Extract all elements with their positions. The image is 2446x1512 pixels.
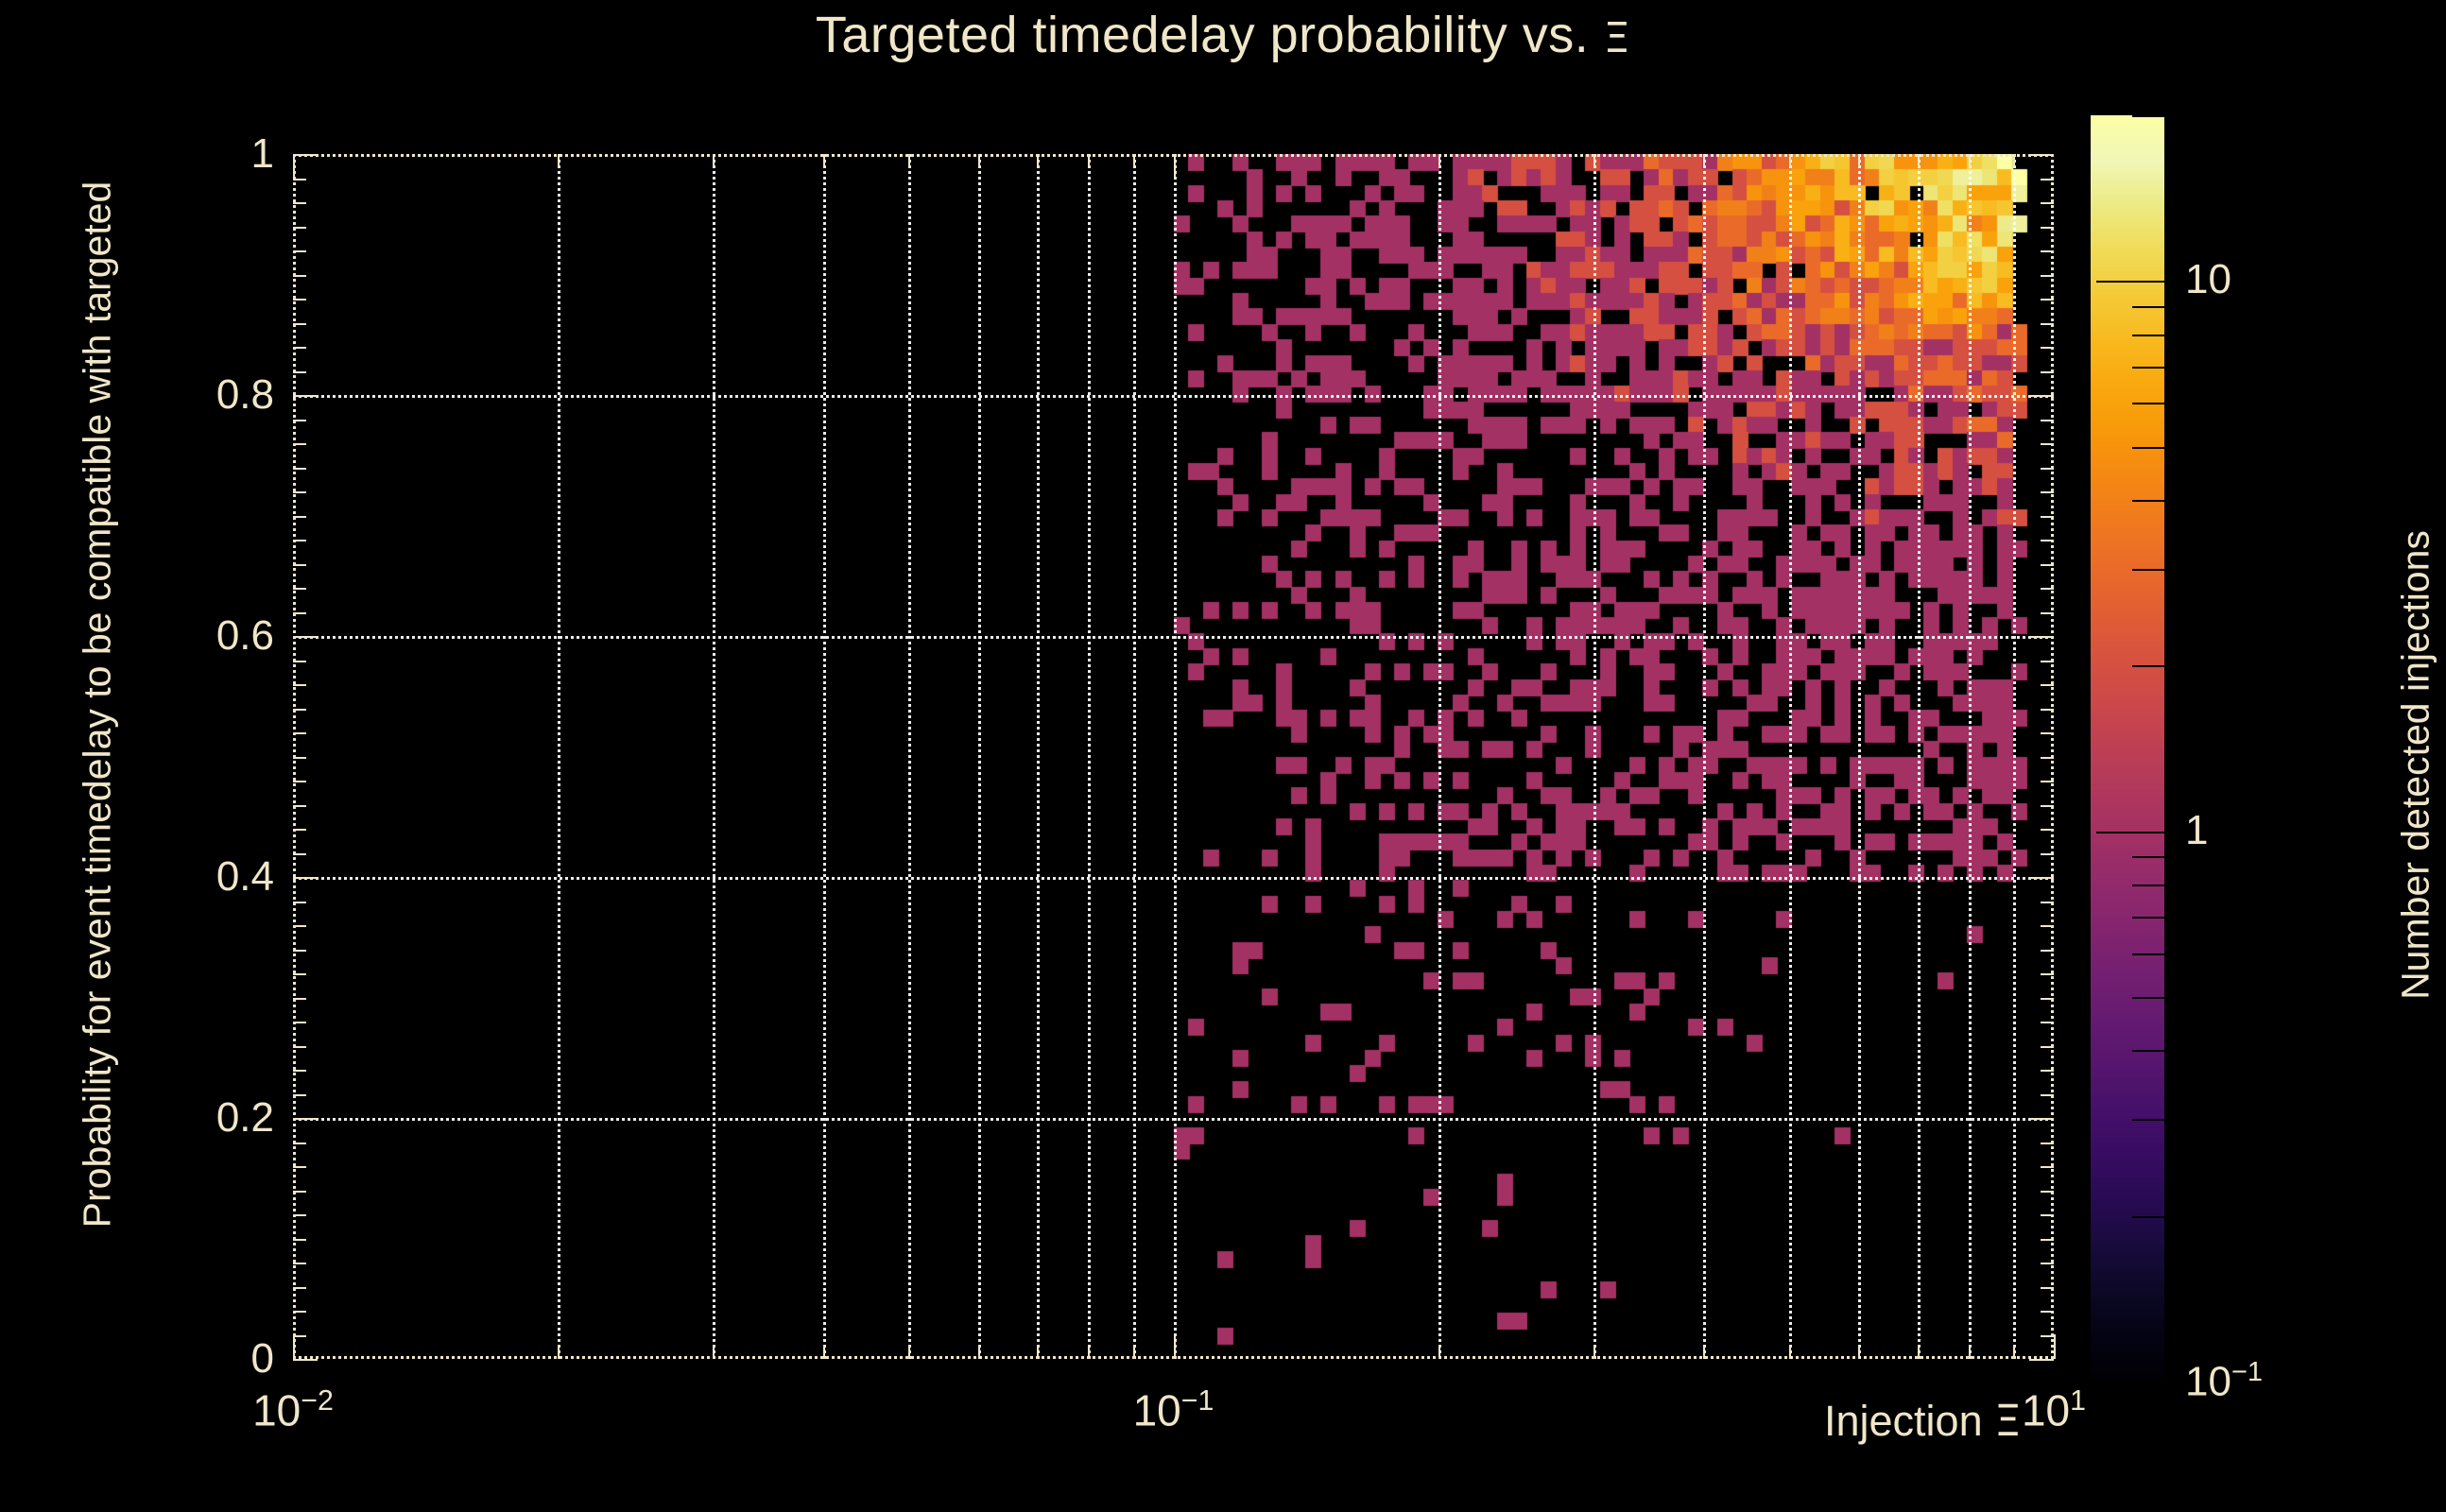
title-xi-symbol: Ξ: [1604, 14, 1630, 62]
colorbar-tick: [2096, 1382, 2164, 1383]
x-tick-mantissa: 10: [2022, 1385, 2070, 1435]
colorbar-tick: [2132, 367, 2164, 369]
colorbar: [2091, 115, 2164, 1382]
x-tick-mantissa: 10: [252, 1385, 301, 1435]
colorbar-tick: [2132, 1119, 2164, 1121]
plot-canvas: Targeted timedelay probability vs. Ξ 10.…: [0, 0, 2446, 1512]
colorbar-tick-label: 1: [2185, 807, 2208, 854]
colorbar-tick-mantissa: 10: [2185, 1359, 2231, 1405]
y-tick-right: [2029, 1359, 2054, 1361]
colorbar-tick: [2096, 281, 2164, 283]
colorbar-tick: [2132, 447, 2164, 449]
colorbar-tick: [2096, 832, 2164, 833]
colorbar-tick: [2132, 335, 2164, 336]
colorbar-tick: [2132, 306, 2164, 308]
x-axis-xi-symbol: Ξ: [1994, 1396, 2021, 1446]
heatmap-cells: [293, 154, 2054, 1359]
colorbar-tick-exponent: −1: [2231, 1357, 2263, 1387]
colorbar-tick: [2132, 115, 2164, 117]
x-tick-mantissa: 10: [1133, 1385, 1181, 1435]
y-tick-label: 0: [57, 1338, 274, 1380]
title-text: Targeted timedelay probability vs.: [816, 7, 1604, 63]
colorbar-tick: [2132, 856, 2164, 858]
colorbar-title: Number detected injections: [2394, 293, 2438, 1238]
colorbar-tick-label: 10−1: [2185, 1357, 2263, 1406]
x-tick: [2054, 1334, 2056, 1359]
colorbar-tick: [2132, 917, 2164, 919]
x-tick-label: 10−1: [1070, 1380, 1278, 1432]
colorbar-tick-mantissa: 1: [2185, 807, 2208, 853]
colorbar-tick: [2132, 1216, 2164, 1218]
x-tick-exponent: −1: [1181, 1385, 1214, 1417]
x-tick-exponent: 1: [2070, 1385, 2086, 1417]
colorbar-tick: [2132, 500, 2164, 502]
colorbar-ticks: [2091, 115, 2164, 1382]
colorbar-tick: [2132, 954, 2164, 955]
colorbar-tick-mantissa: 10: [2185, 256, 2231, 302]
colorbar-tick: [2132, 569, 2164, 571]
x-tick-exponent: −2: [301, 1385, 334, 1417]
x-tick-label: 10−2: [189, 1380, 397, 1432]
colorbar-tick-label: 10: [2185, 256, 2231, 303]
x-axis-title-text: Injection: [1824, 1397, 1994, 1445]
page-title: Targeted timedelay probability vs. Ξ: [0, 6, 2446, 64]
colorbar-tick: [2132, 665, 2164, 667]
y-axis-title: Probability for event timedelay to be co…: [76, 162, 120, 1248]
colorbar-tick: [2132, 885, 2164, 886]
colorbar-tick: [2132, 997, 2164, 999]
colorbar-tick: [2132, 403, 2164, 404]
colorbar-tick: [2132, 1050, 2164, 1052]
y-tick: [293, 1359, 318, 1361]
x-axis-title: Injection Ξ: [1824, 1396, 2022, 1446]
heatmap-frame: [293, 154, 2054, 1359]
